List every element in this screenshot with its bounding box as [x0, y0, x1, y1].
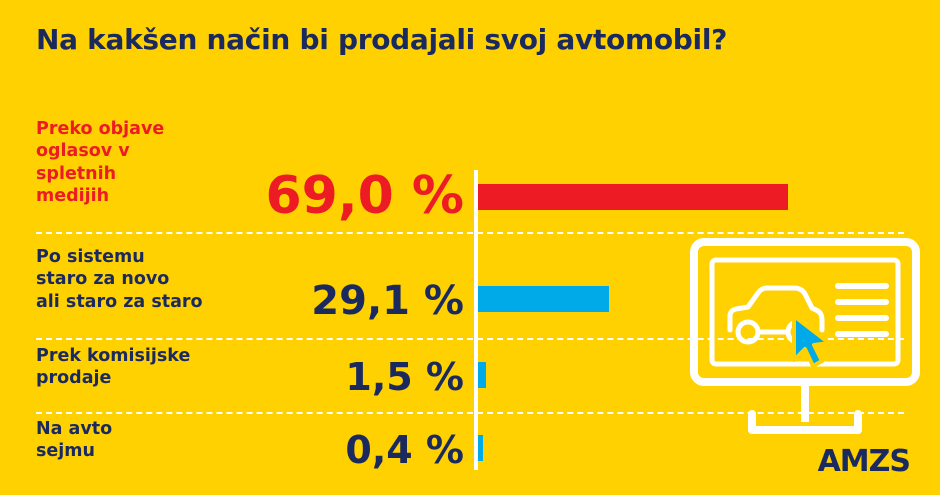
row-value: 69,0 %: [214, 166, 464, 226]
row-value: 29,1 %: [214, 278, 464, 324]
amzs-logo: AMZS: [818, 444, 910, 479]
page-title: Na kakšen način bi prodajali svoj avtomo…: [36, 24, 836, 56]
bar-segment: [478, 362, 486, 388]
bar-segment: [478, 286, 609, 312]
row-value: 0,4 %: [214, 428, 464, 472]
bar-segment: [478, 184, 788, 210]
row-divider: [36, 232, 904, 234]
bar-segment: [478, 435, 483, 461]
chart-row: Preko objave oglasov v spletnih medijih …: [0, 118, 940, 223]
monitor-with-car-listing-icon: [690, 238, 920, 448]
row-value: 1,5 %: [214, 355, 464, 399]
infographic-canvas: Na kakšen način bi prodajali svoj avtomo…: [0, 0, 940, 495]
